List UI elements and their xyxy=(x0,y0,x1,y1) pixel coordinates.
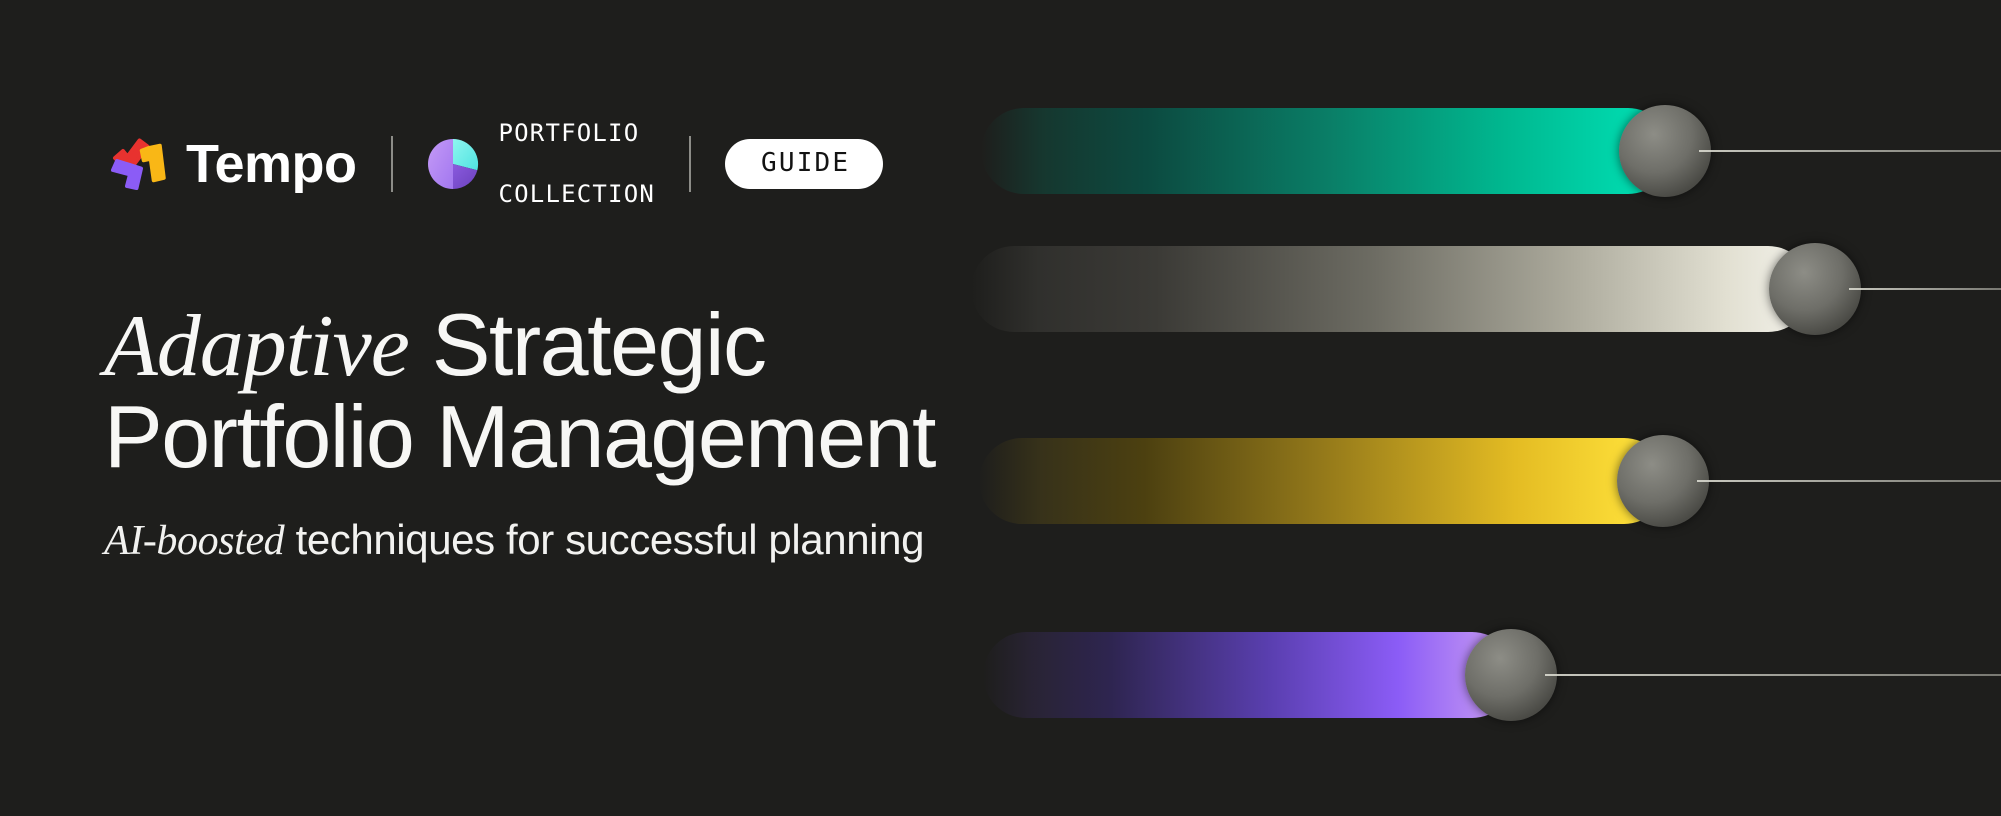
collection-label-line-1: PORTFOLIO xyxy=(499,118,656,149)
slider-yellow-knob[interactable] xyxy=(1617,435,1709,527)
slider-cream-knob[interactable] xyxy=(1769,243,1861,335)
hero-banner: Tempo xyxy=(0,0,2001,816)
portfolio-collection-label: PORTFOLIO COLLECTION xyxy=(499,87,656,241)
slider-purple-track xyxy=(983,632,1515,718)
portfolio-collection-group: PORTFOLIO COLLECTION xyxy=(427,87,656,241)
subheadline-italic-word: AI-boosted xyxy=(104,518,284,564)
subheadline-rest: techniques for successful planning xyxy=(284,516,924,563)
collection-label-line-2: COLLECTION xyxy=(499,179,656,210)
pie-chart-icon xyxy=(427,138,479,190)
headline-line-1-rest: Strategic xyxy=(409,295,766,394)
headline-italic-word: Adaptive xyxy=(104,298,409,395)
slider-purple-knob[interactable] xyxy=(1465,629,1557,721)
slider-graphics xyxy=(971,0,2001,816)
divider-2 xyxy=(689,136,691,192)
tempo-logo-lockup[interactable]: Tempo xyxy=(108,132,357,196)
tempo-wordmark: Tempo xyxy=(186,137,357,191)
slider-cream-track xyxy=(971,246,1811,332)
slider-teal-knob[interactable] xyxy=(1619,105,1711,197)
slider-yellow-tail-line xyxy=(1697,480,2001,482)
brand-row: Tempo xyxy=(108,128,883,200)
divider-1 xyxy=(391,136,393,192)
slider-cream-tail-line xyxy=(1849,288,2001,290)
slider-teal-tail-line xyxy=(1699,150,2001,152)
slider-teal-track xyxy=(981,108,1671,194)
slider-yellow-track xyxy=(979,438,1667,524)
tempo-logo-mark-icon xyxy=(108,132,172,196)
guide-badge[interactable]: GUIDE xyxy=(725,139,883,189)
slider-purple-tail-line xyxy=(1545,674,2001,676)
